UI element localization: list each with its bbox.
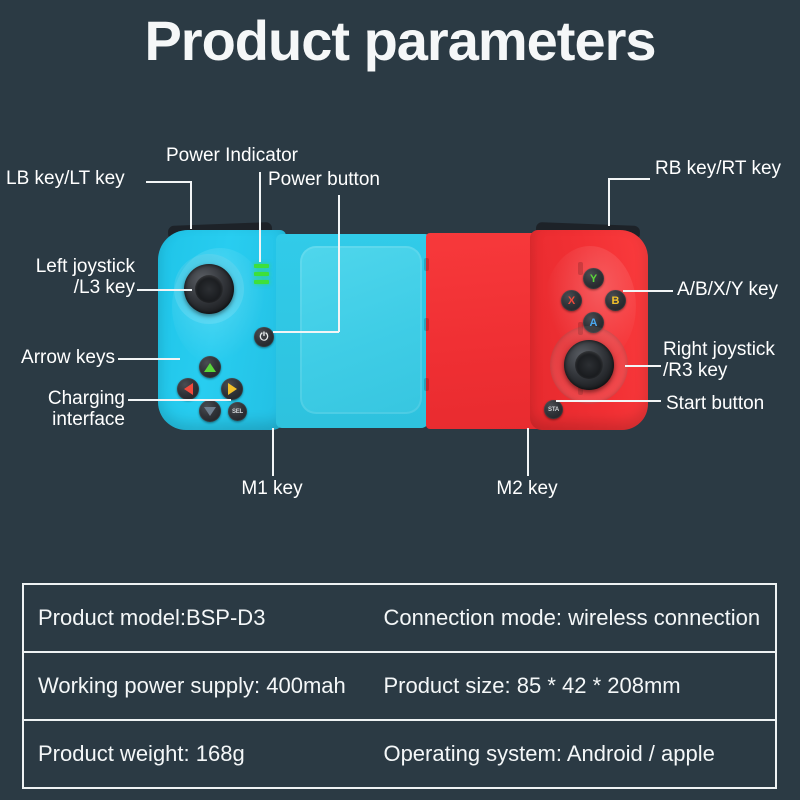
plate-notch (578, 262, 583, 275)
power-led-bar (254, 280, 269, 284)
right-joystick[interactable] (564, 340, 614, 390)
start-button[interactable]: STA (544, 400, 563, 419)
spec-working-power-supply: Working power supply: 400mah (24, 653, 369, 719)
table-row: Working power supply: 400mah Product siz… (24, 653, 775, 721)
dpad-right-button[interactable] (221, 378, 243, 400)
b-button[interactable]: B (605, 290, 626, 311)
x-button[interactable]: X (561, 290, 582, 311)
arrow-right-icon (228, 383, 237, 395)
callout-right-joystick: Right joystick /R3 key (663, 339, 775, 382)
callout-start-button: Start button (666, 393, 764, 414)
phone-cradle-surface (300, 246, 422, 414)
callout-arrow-keys: Arrow keys (0, 347, 115, 368)
callout-lb-lt-key: LB key/LT key (6, 168, 125, 189)
specifications-table: Product model:BSP-D3 Connection mode: wi… (22, 583, 777, 789)
leader-line-right-joystick (625, 365, 661, 367)
dpad-left-button[interactable] (177, 378, 199, 400)
leader-line-charging-interface (128, 399, 231, 401)
callout-left-joystick: Left joystick /L3 key (0, 256, 135, 299)
arrow-left-icon (184, 383, 193, 395)
product-parameters-infographic: Product parameters ⏻ (0, 0, 800, 800)
leader-line-m1 (272, 428, 274, 476)
callout-charging-interface: Charging interface (0, 388, 125, 431)
callout-m1-key: M1 key (212, 478, 332, 499)
leader-line-start-button (556, 400, 661, 402)
leader-line-lb-lt (146, 181, 192, 183)
power-led-bar (254, 272, 269, 276)
spec-product-size: Product size: 85 * 42 * 208mm (369, 653, 775, 719)
arrow-up-icon (204, 363, 216, 372)
spec-connection-mode: Connection mode: wireless connection (369, 585, 775, 651)
select-button[interactable]: SEL (228, 402, 247, 421)
power-button[interactable]: ⏻ (254, 327, 274, 347)
leader-line-left-joystick (137, 289, 192, 291)
leader-line-m2 (527, 428, 529, 476)
power-indicator-leds (254, 264, 269, 284)
page-title: Product parameters (0, 8, 800, 73)
power-led-bar (254, 264, 269, 268)
plate-notch (424, 258, 429, 271)
start-button-label: STA (548, 407, 559, 413)
spec-product-model: Product model:BSP-D3 (24, 585, 369, 651)
power-icon: ⏻ (260, 331, 269, 344)
table-row: Product weight: 168g Operating system: A… (24, 721, 775, 787)
dpad-up-button[interactable] (199, 356, 221, 378)
y-button-label: Y (590, 273, 597, 285)
spec-product-weight: Product weight: 168g (24, 721, 369, 787)
leader-line-power-button (338, 195, 340, 332)
leader-line-power-button (273, 331, 339, 333)
b-button-label: B (612, 295, 620, 307)
leader-line-rb-rt (608, 178, 650, 180)
y-button[interactable]: Y (583, 268, 604, 289)
game-controller-illustration: ⏻ SEL Y X B A (158, 222, 648, 434)
callout-m2-key: M2 key (467, 478, 587, 499)
x-button-label: X (568, 295, 575, 307)
callout-abxy-key: A/B/X/Y key (677, 279, 778, 300)
callout-power-indicator: Power Indicator (154, 145, 310, 166)
callout-power-button: Power button (268, 169, 380, 190)
spec-operating-system: Operating system: Android / apple (369, 721, 775, 787)
select-button-label: SEL (232, 409, 243, 415)
dpad-down-button[interactable] (199, 400, 221, 422)
leader-line-abxy (623, 290, 673, 292)
plate-notch (424, 318, 429, 331)
leader-line-arrow-keys (118, 358, 180, 360)
leader-line-lb-lt (190, 181, 192, 229)
table-row: Product model:BSP-D3 Connection mode: wi… (24, 585, 775, 653)
callout-rb-rt-key: RB key/RT key (655, 158, 781, 179)
plate-notch (424, 378, 429, 391)
leader-line-rb-rt (608, 178, 610, 226)
arrow-down-icon (204, 407, 216, 416)
leader-line-power-indicator (259, 172, 261, 262)
